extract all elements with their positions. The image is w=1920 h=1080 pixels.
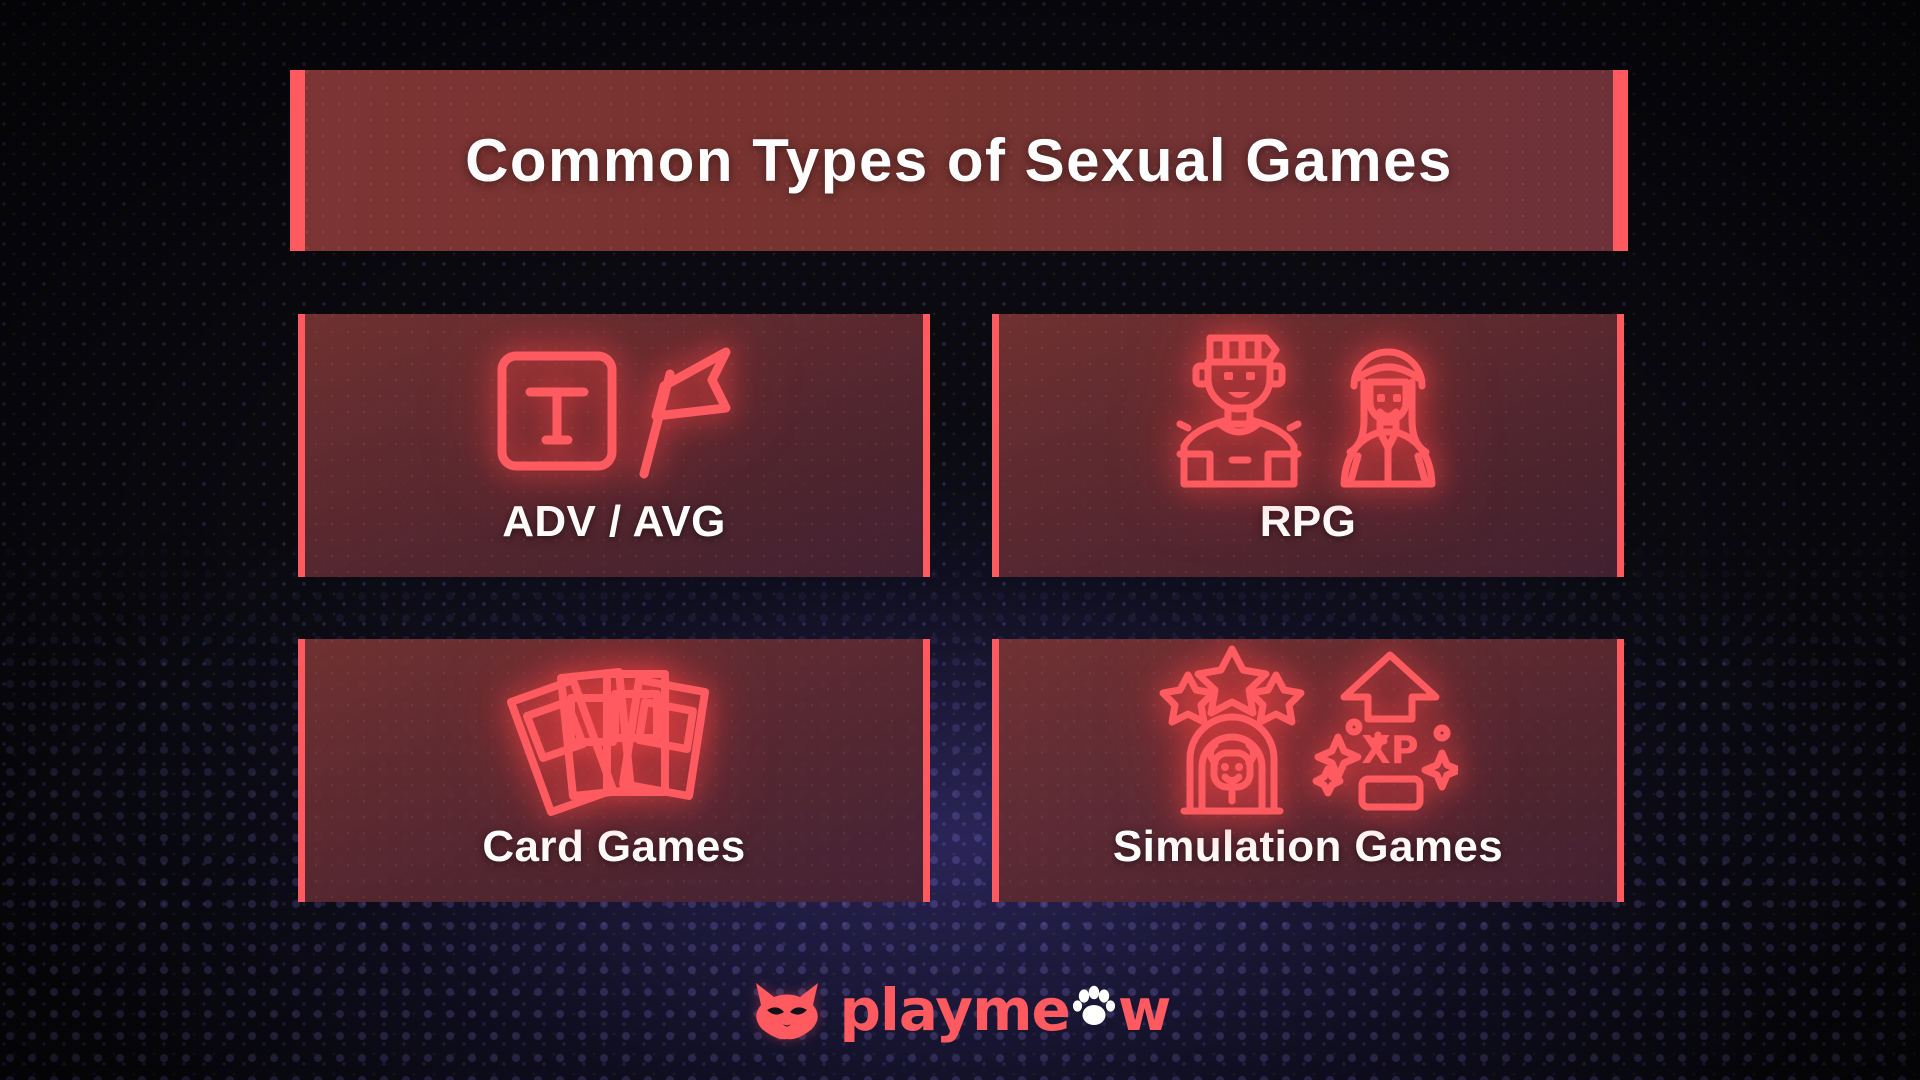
- card-adv-avg-icons: [298, 314, 930, 497]
- title-banner-left-accent: [290, 70, 305, 251]
- brand-text-me: me: [972, 976, 1070, 1044]
- flag-icon: [644, 352, 726, 474]
- paw-print-icon: [1071, 984, 1117, 1030]
- game-type-grid: ADV / AVG: [298, 314, 1624, 902]
- title-banner-right-accent: [1613, 70, 1628, 251]
- brand-text-play: play: [840, 976, 973, 1044]
- text-box-t-icon: [502, 356, 612, 466]
- card-card-games[interactable]: Card Games: [298, 639, 930, 902]
- card-rpg-icons: [992, 314, 1624, 497]
- card-simulation-games-label: Simulation Games: [1113, 822, 1503, 872]
- xp-level-up-icon: XP: [1316, 655, 1458, 807]
- card-simulation-games-icons: XP: [992, 639, 1624, 822]
- card-adv-avg[interactable]: ADV / AVG: [298, 314, 930, 577]
- brand-wordmark: playme w: [840, 976, 1171, 1044]
- card-card-games-icons: [298, 639, 930, 822]
- page-title: Common Types of Sexual Games: [465, 126, 1453, 195]
- card-rpg-label: RPG: [1260, 497, 1357, 547]
- male-character-icon: [1180, 338, 1298, 484]
- svg-text:XP: XP: [1361, 728, 1418, 772]
- card-card-games-label: Card Games: [482, 822, 745, 872]
- playing-cards-fan-icon: [511, 672, 705, 812]
- card-simulation-games[interactable]: XP Simulation Games: [992, 639, 1624, 902]
- footer-brand[interactable]: playme w: [0, 976, 1920, 1044]
- card-rpg[interactable]: RPG: [992, 314, 1624, 577]
- title-banner: Common Types of Sexual Games: [290, 70, 1628, 251]
- brand-text-w: w: [1118, 976, 1171, 1044]
- star-rated-avatar-icon: [1163, 649, 1301, 811]
- cat-head-icon: [750, 979, 824, 1041]
- card-adv-avg-label: ADV / AVG: [502, 497, 726, 547]
- female-character-icon: [1344, 352, 1432, 484]
